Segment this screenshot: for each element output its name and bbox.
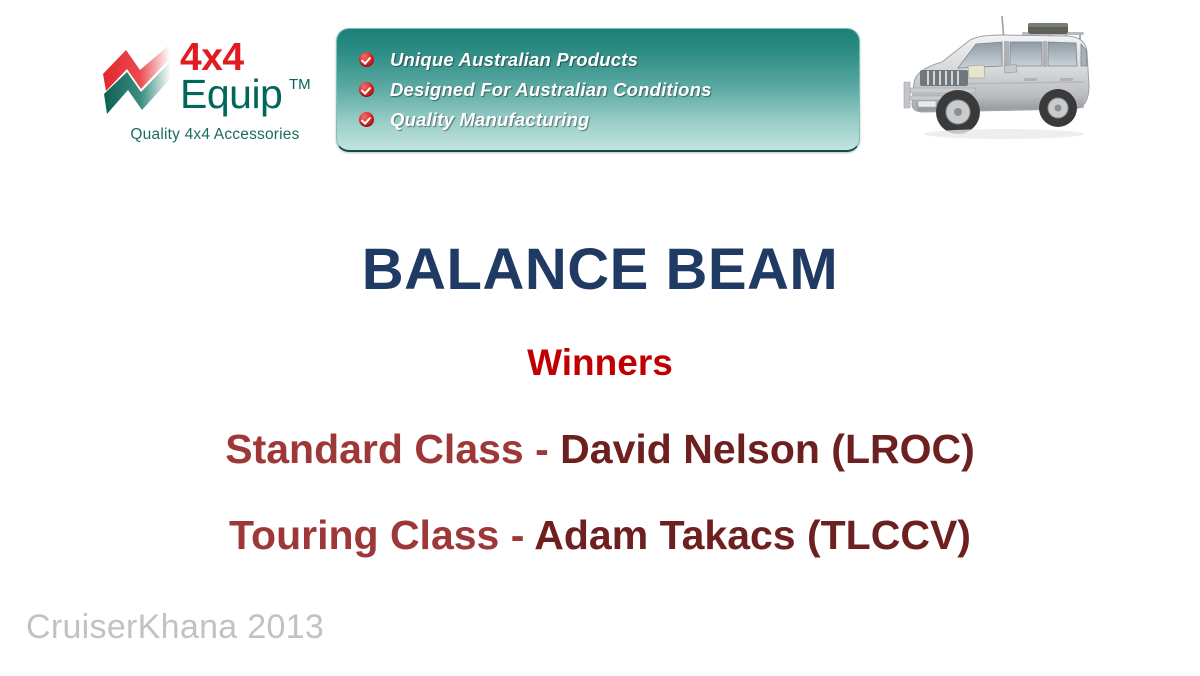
result-class-label: Touring Class - bbox=[229, 512, 534, 558]
brand-tagline: Quality 4x4 Accessories bbox=[100, 126, 330, 144]
footer-watermark: CruiserKhana 2013 bbox=[26, 608, 324, 647]
result-row: Standard Class - David Nelson (LROC) bbox=[0, 424, 1200, 474]
brand-name-bottom: Equip bbox=[180, 71, 282, 117]
winners-heading: Winners bbox=[0, 340, 1200, 386]
brand-logo: 4x4 Equip TM Quality 4x4 Accessories bbox=[96, 38, 328, 156]
banner-bullet-label: Quality Manufacturing bbox=[390, 109, 590, 131]
vehicle-photo bbox=[884, 8, 1110, 156]
result-winner-name: David Nelson (LROC) bbox=[560, 426, 975, 472]
zigzag-chevron-icon bbox=[100, 44, 176, 118]
trademark-symbol: TM bbox=[289, 76, 311, 93]
banner-bullet-label: Designed For Australian Conditions bbox=[390, 79, 712, 101]
result-class-label: Standard Class - bbox=[225, 426, 560, 472]
check-circle-icon bbox=[359, 52, 374, 67]
banner-bullet-item: Quality Manufacturing bbox=[359, 105, 859, 134]
brand-wordmark: 4x4 Equip TM bbox=[180, 38, 328, 124]
feature-banner: Unique Australian Products Designed For … bbox=[336, 28, 860, 152]
banner-bullet-label: Unique Australian Products bbox=[390, 49, 638, 71]
banner-bullet-item: Unique Australian Products bbox=[359, 45, 859, 74]
result-row: Touring Class - Adam Takacs (TLCCV) bbox=[0, 510, 1200, 560]
check-circle-icon bbox=[359, 82, 374, 97]
page-title: BALANCE BEAM bbox=[0, 235, 1200, 305]
header-strip: 4x4 Equip TM Quality 4x4 Accessories Uni… bbox=[0, 0, 1200, 170]
banner-bullet-item: Designed For Australian Conditions bbox=[359, 75, 859, 104]
slide-content: BALANCE BEAM Winners Standard Class - Da… bbox=[0, 235, 1200, 560]
check-circle-icon bbox=[359, 112, 374, 127]
result-winner-name: Adam Takacs (TLCCV) bbox=[534, 512, 971, 558]
